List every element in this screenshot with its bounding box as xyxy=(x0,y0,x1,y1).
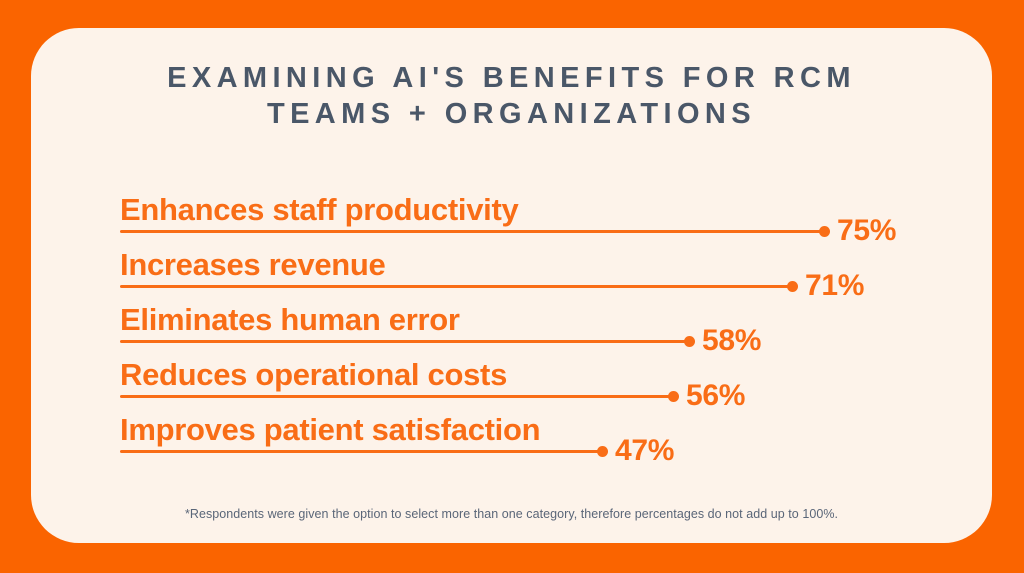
infographic-canvas: EXAMINING AI'S BENEFITS FOR RCM TEAMS + … xyxy=(0,0,1024,573)
chart-row: Reduces operational costs56% xyxy=(120,343,960,398)
bar-category-label: Increases revenue xyxy=(120,248,385,282)
chart-row: Enhances staff productivity75% xyxy=(120,178,960,233)
bar-category-label: Eliminates human error xyxy=(120,303,460,337)
bar-chart: Enhances staff productivity75%Increases … xyxy=(120,178,960,478)
footnote-text: *Respondents were given the option to se… xyxy=(31,506,992,522)
bar-line xyxy=(120,450,604,453)
bar-value-label: 47% xyxy=(615,435,674,467)
chart-row: Eliminates human error58% xyxy=(120,288,960,343)
title-line-1: EXAMINING AI'S BENEFITS FOR RCM xyxy=(31,60,992,96)
bar-category-label: Reduces operational costs xyxy=(120,358,507,392)
page-title: EXAMINING AI'S BENEFITS FOR RCM TEAMS + … xyxy=(31,60,992,132)
bar-category-label: Improves patient satisfaction xyxy=(120,413,540,447)
chart-row: Increases revenue71% xyxy=(120,233,960,288)
title-line-2: TEAMS + ORGANIZATIONS xyxy=(31,96,992,132)
chart-row: Improves patient satisfaction47% xyxy=(120,398,960,453)
content-card: EXAMINING AI'S BENEFITS FOR RCM TEAMS + … xyxy=(31,28,992,543)
bar-category-label: Enhances staff productivity xyxy=(120,193,518,227)
bar-endpoint-dot xyxy=(597,446,608,457)
